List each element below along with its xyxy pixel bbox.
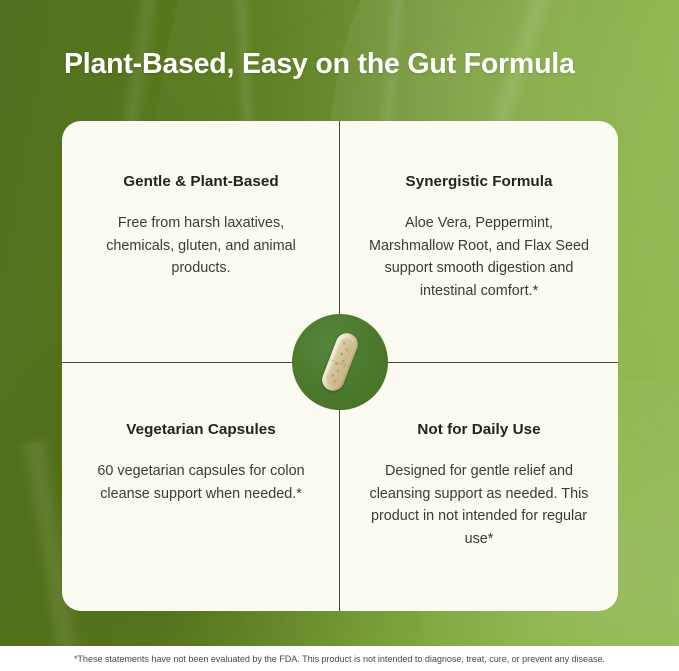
quadrant-heading: Not for Daily Use	[417, 421, 540, 438]
quadrant-synergistic-formula: Synergistic Formula Aloe Vera, Peppermin…	[340, 121, 618, 366]
footer-bar: *These statements have not been evaluate…	[0, 646, 679, 671]
quadrant-body: Aloe Vera, Peppermint, Marshmallow Root,…	[366, 212, 592, 302]
quadrant-heading: Gentle & Plant-Based	[123, 173, 278, 190]
fda-disclaimer: *These statements have not been evaluate…	[74, 654, 605, 664]
quadrant-heading: Vegetarian Capsules	[126, 421, 276, 438]
quadrant-heading: Synergistic Formula	[406, 173, 553, 190]
capsule-grain	[325, 336, 356, 388]
quadrant-body: Free from harsh laxatives, chemicals, gl…	[88, 212, 314, 280]
quadrant-body: Designed for gentle relief and cleansing…	[366, 460, 592, 550]
quadrant-body: 60 vegetarian capsules for colon cleanse…	[88, 460, 314, 505]
page-title: Plant-Based, Easy on the Gut Formula	[64, 47, 624, 81]
capsule-icon	[319, 330, 361, 394]
center-badge	[292, 314, 388, 410]
quadrant-vegetarian-capsules: Vegetarian Capsules 60 vegetarian capsul…	[62, 366, 340, 611]
quadrant-not-for-daily-use: Not for Daily Use Designed for gentle re…	[340, 366, 618, 611]
infographic-stage: Plant-Based, Easy on the Gut Formula Gen…	[0, 0, 679, 671]
quadrant-gentle-plant-based: Gentle & Plant-Based Free from harsh lax…	[62, 121, 340, 366]
